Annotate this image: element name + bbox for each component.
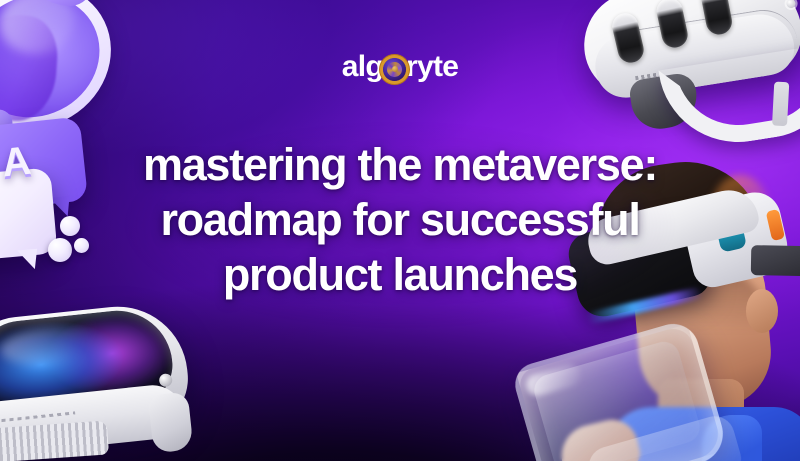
quest-strap-buckle bbox=[772, 82, 789, 127]
brand-name-prefix: alg bbox=[342, 52, 383, 82]
vision-pro-vent bbox=[0, 420, 109, 461]
algoryte-orb-icon bbox=[383, 58, 406, 81]
promo-banner: A Q bbox=[0, 0, 800, 461]
brand-logo-wordmark: alg ryte bbox=[342, 52, 458, 82]
headline-line-2: roadmap for successful bbox=[96, 192, 704, 247]
headline-line-1: mastering the metaverse: bbox=[96, 137, 704, 192]
brand-logo[interactable]: alg ryte bbox=[0, 52, 800, 82]
vr-goggles-vision-pro-icon bbox=[0, 295, 207, 461]
brand-name-suffix: ryte bbox=[406, 52, 458, 82]
headline-line-3: product launches bbox=[96, 247, 704, 302]
headline-block: mastering the metaverse: roadmap for suc… bbox=[0, 137, 800, 302]
vision-pro-side-arm bbox=[148, 391, 194, 453]
